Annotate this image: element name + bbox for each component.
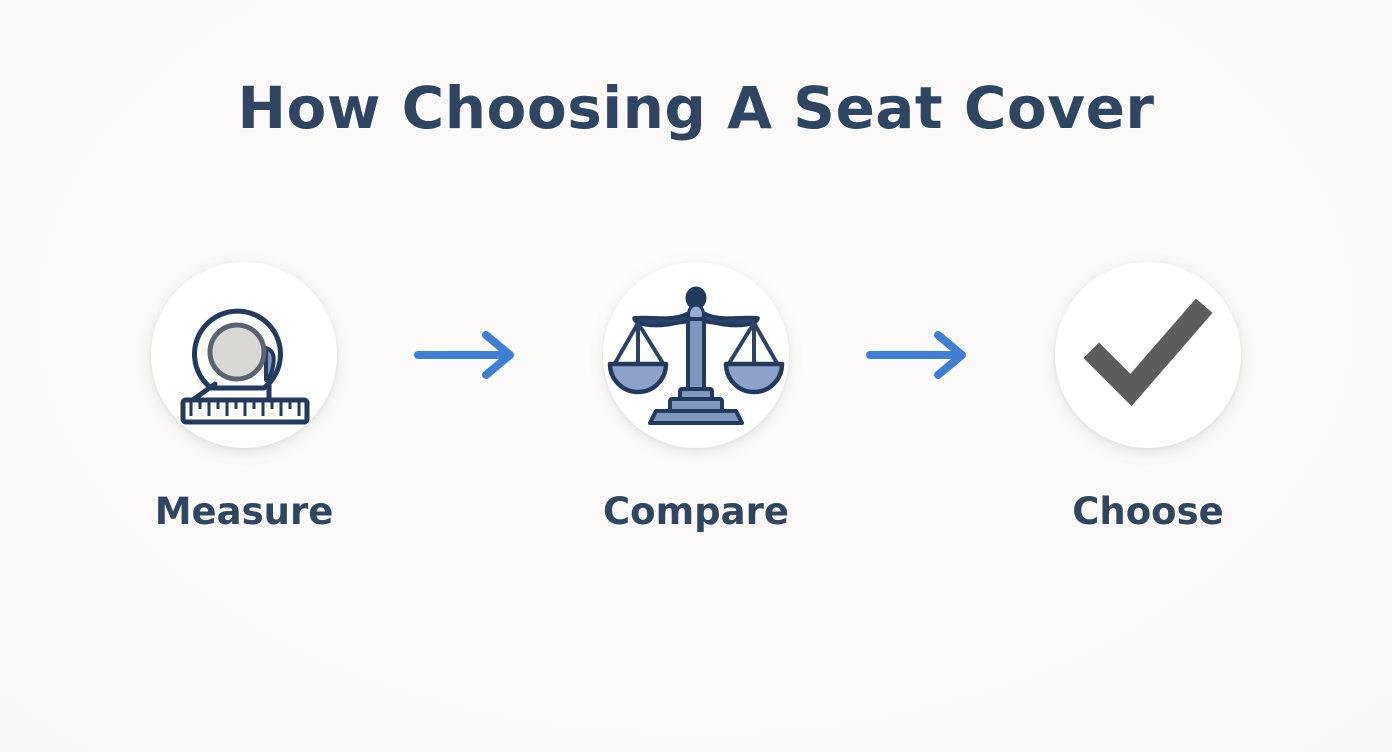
measuring-tape-icon <box>169 280 319 430</box>
balance-scales-icon <box>622 281 770 429</box>
steps-row: Measure <box>0 262 1392 582</box>
step-label-measure: Measure <box>155 490 334 533</box>
icon-circle-measure <box>151 262 337 448</box>
arrow-right-icon <box>414 328 526 382</box>
icon-circle-compare <box>603 262 789 448</box>
checkmark-icon <box>1083 300 1213 410</box>
icon-circle-choose <box>1055 262 1241 448</box>
step-compare[interactable]: Compare <box>583 262 809 533</box>
step-label-compare: Compare <box>603 490 789 533</box>
infographic-canvas: How Choosing A Seat Cover <box>0 0 1392 752</box>
step-label-choose: Choose <box>1072 490 1223 533</box>
arrow-right-icon <box>866 328 978 382</box>
page-title: How Choosing A Seat Cover <box>0 74 1392 142</box>
step-measure[interactable]: Measure <box>131 262 357 533</box>
connector-1 <box>357 262 583 448</box>
step-choose[interactable]: Choose <box>1035 262 1261 533</box>
connector-2 <box>809 262 1035 448</box>
